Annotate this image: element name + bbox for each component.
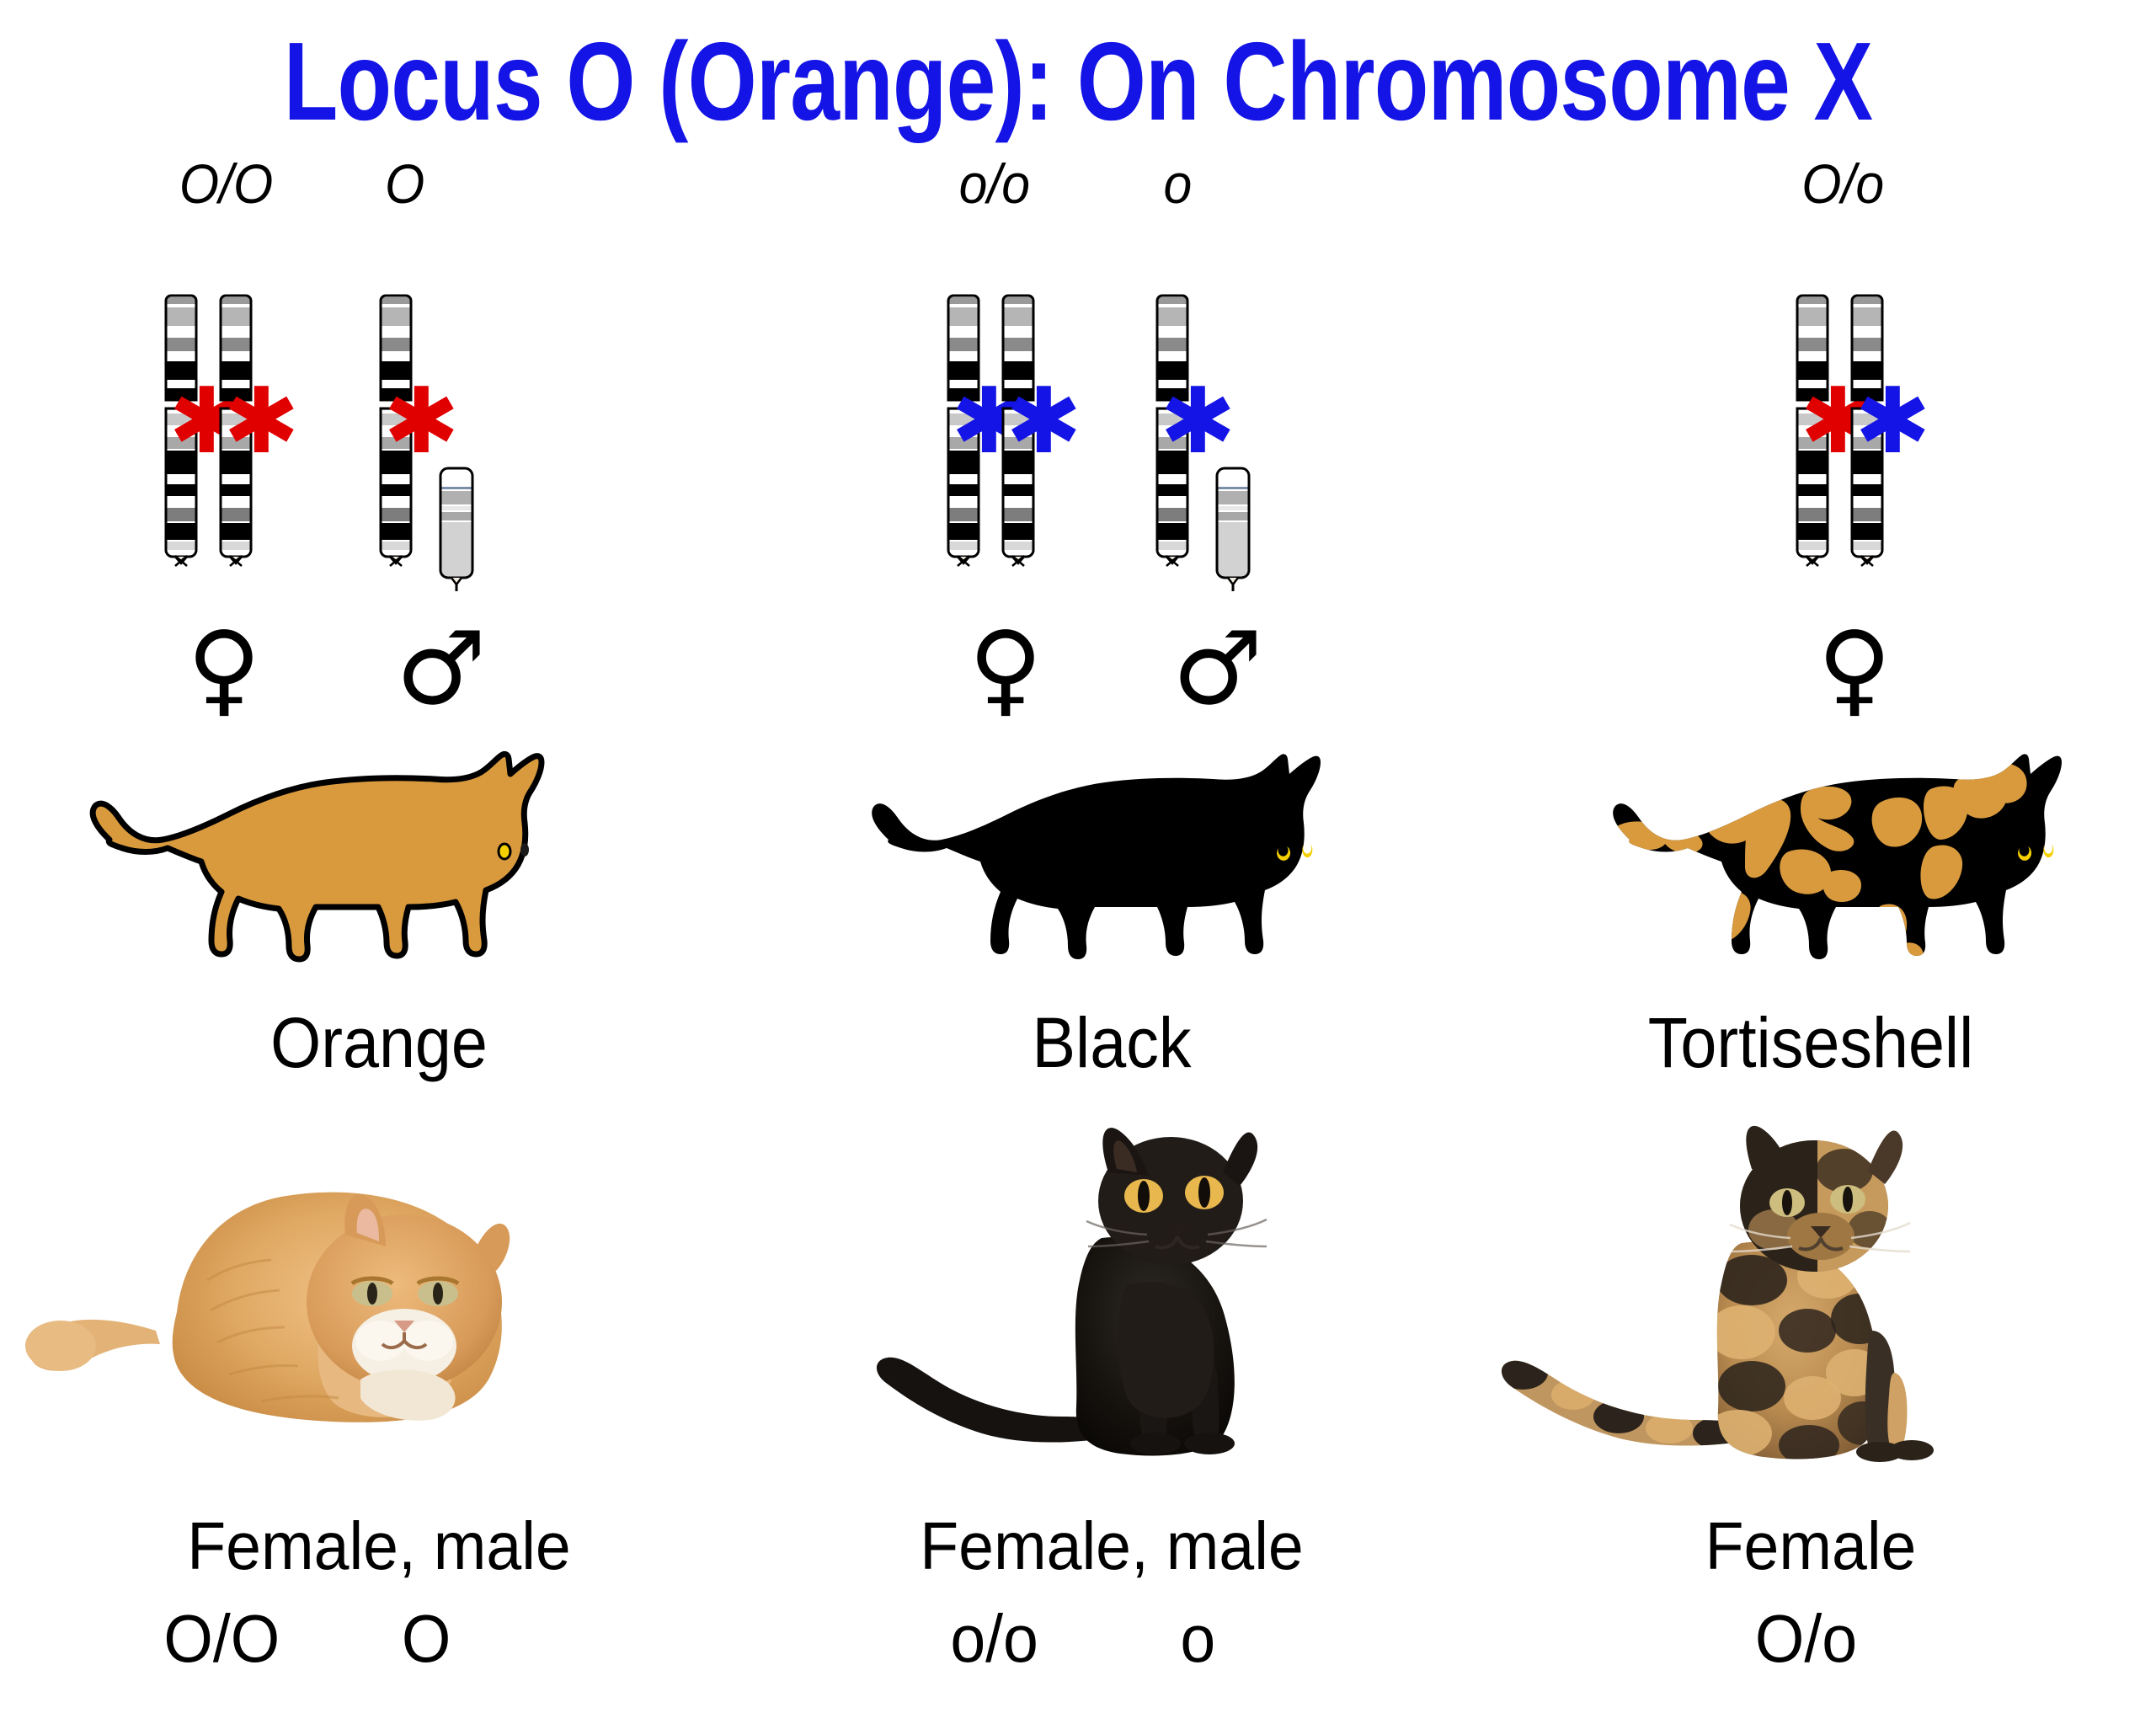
genotype-label-row-tortie: O/o bbox=[1465, 152, 2156, 227]
genotype-label-row-black: o/o o bbox=[758, 152, 1465, 227]
black-cat-photo bbox=[834, 1120, 1356, 1474]
phenotype-label-orange: Orange bbox=[30, 1002, 728, 1084]
chromosome-x-3 bbox=[377, 291, 414, 568]
tortoiseshell-cat-cartoon bbox=[1583, 745, 2105, 998]
genotype-caption-male-orange: O bbox=[402, 1600, 451, 1678]
chromosome-x-1 bbox=[163, 291, 200, 568]
chromosome-x-2 bbox=[1000, 291, 1037, 568]
chromosome-x-2 bbox=[1849, 291, 1886, 568]
tortoiseshell-cat-photo bbox=[1474, 1120, 2013, 1474]
genotype-label-oo-female-tortie: O/o bbox=[1801, 152, 1884, 216]
genotype-label-oo-female: O/O bbox=[179, 152, 273, 216]
chromosome-x-1 bbox=[945, 291, 982, 568]
column-tortoiseshell: O/o bbox=[1465, 0, 2156, 1713]
chromosome-x-3 bbox=[1154, 291, 1191, 568]
genotype-caption-female-tortie: O/o bbox=[1755, 1600, 1857, 1678]
genotype-label-o-male: O bbox=[385, 152, 424, 216]
column-orange: O/O O bbox=[0, 0, 758, 1713]
male-symbol: ♂ bbox=[396, 619, 487, 720]
phenotype-label-tortoiseshell: Tortiseshell bbox=[1493, 1002, 2128, 1084]
genotype-label-row-orange: O/O O bbox=[0, 152, 758, 227]
genotype-caption-row-black: o/o o bbox=[758, 1600, 1465, 1676]
chromosome-y-1 bbox=[1214, 465, 1251, 591]
orange-cat-cartoon bbox=[63, 745, 585, 998]
female-symbol: ♀ bbox=[969, 619, 1043, 720]
sex-caption-tortoiseshell: Female bbox=[1486, 1508, 2136, 1585]
sex-caption-orange: Female, male bbox=[23, 1508, 735, 1585]
genotype-caption-male-black: o bbox=[1180, 1600, 1215, 1678]
female-symbol: ♀ bbox=[1817, 619, 1892, 720]
male-symbol: ♂ bbox=[1172, 619, 1263, 720]
genotype-caption-female-black: o/o bbox=[950, 1600, 1038, 1678]
black-cat-cartoon bbox=[842, 745, 1364, 998]
genotype-label-o-male-black: o bbox=[1163, 152, 1192, 216]
genotype-label-oo-female-black: o/o bbox=[959, 152, 1030, 216]
column-black: o/o o bbox=[758, 0, 1465, 1713]
chromosome-x-2 bbox=[217, 291, 254, 568]
phenotype-label-black: Black bbox=[787, 1002, 1438, 1084]
chromosome-y-1 bbox=[438, 465, 475, 591]
female-symbol: ♀ bbox=[187, 619, 261, 720]
chromosome-x-1 bbox=[1794, 291, 1831, 568]
genotype-caption-row-tortie: O/o bbox=[1465, 1600, 2156, 1676]
sex-caption-black: Female, male bbox=[779, 1508, 1444, 1585]
orange-cat-photo bbox=[8, 1154, 598, 1465]
genotype-caption-female-orange: O/O bbox=[163, 1600, 280, 1678]
genotype-caption-row-orange: O/O O bbox=[0, 1600, 758, 1676]
